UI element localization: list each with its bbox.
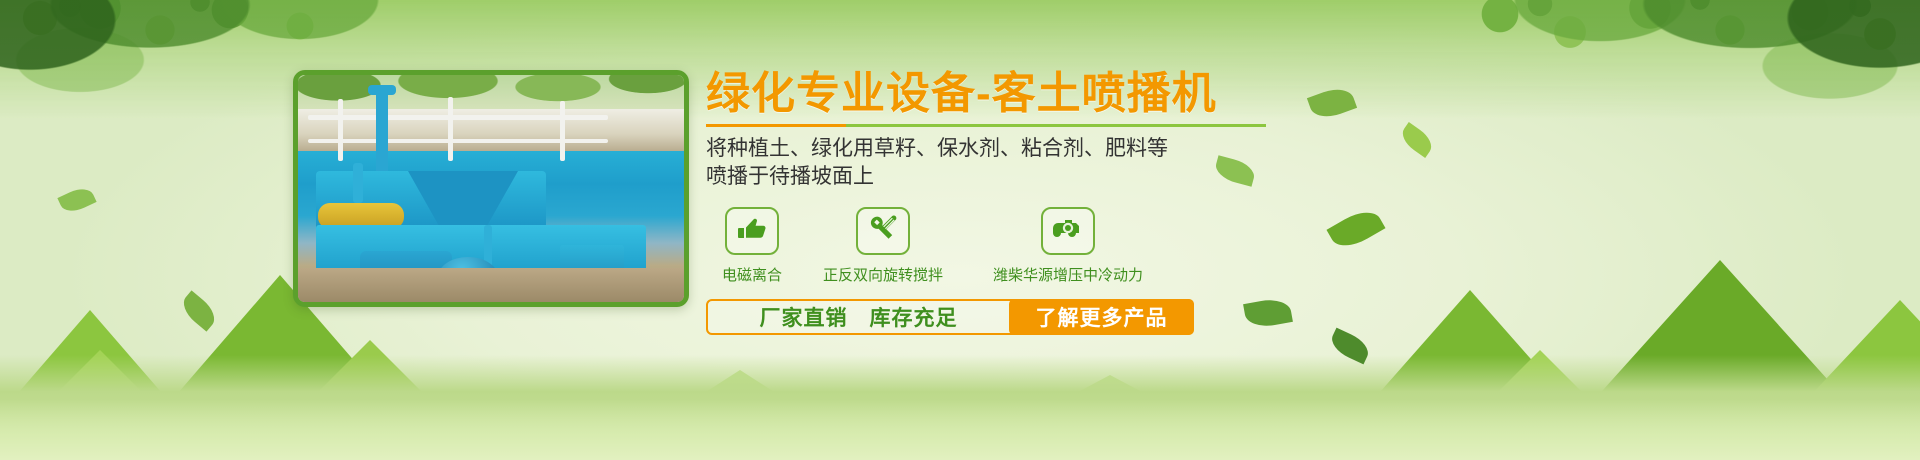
banner-subtitle: 将种植土、绿化用草籽、保水剂、粘合剂、肥料等 喷播于待播坡面上	[706, 135, 1276, 191]
feature-list: 电磁离合 正反双向旋转搅拌	[706, 207, 1276, 285]
subtitle-line-2: 喷播于待播坡面上	[706, 163, 1276, 191]
cta-tag-factory-direct: 厂家直销	[760, 302, 848, 332]
wrench-screwdriver-icon	[868, 214, 898, 247]
feature-icon-box	[1041, 207, 1095, 255]
learn-more-button[interactable]: 了解更多产品	[1009, 299, 1194, 335]
banner-content: 绿化专业设备-客土喷播机 将种植土、绿化用草籽、保水剂、粘合剂、肥料等 喷播于待…	[706, 70, 1276, 335]
grass-band-front	[0, 400, 1920, 460]
feature-label: 正反双向旋转搅拌	[823, 264, 943, 285]
leaf-decoration	[1397, 122, 1436, 158]
feature-label: 潍柴华源增压中冷动力	[993, 264, 1143, 285]
engine-icon	[1052, 215, 1084, 246]
feature-icon-box	[725, 207, 779, 255]
tree-canopy-right	[1450, 0, 1920, 175]
leaf-decoration	[57, 184, 96, 216]
title-divider	[706, 124, 1266, 127]
cta-bar: 厂家直销 库存充足 了解更多产品	[706, 299, 1194, 335]
product-photo	[293, 70, 689, 307]
feature-item-bidirectional-mixing: 正反双向旋转搅拌	[798, 207, 968, 285]
feature-label: 电磁离合	[722, 264, 782, 285]
feature-item-electromagnetic-clutch: 电磁离合	[706, 207, 798, 285]
leaf-decoration	[1326, 204, 1385, 254]
subtitle-line-1: 将种植土、绿化用草籽、保水剂、粘合剂、肥料等	[706, 135, 1276, 163]
promo-banner: 绿化专业设备-客土喷播机 将种植土、绿化用草籽、保水剂、粘合剂、肥料等 喷播于待…	[0, 0, 1920, 460]
feature-icon-box	[856, 207, 910, 255]
feature-item-weichai-engine: 潍柴华源增压中冷动力	[968, 207, 1168, 285]
thumbs-up-icon	[737, 215, 767, 246]
product-photo-image	[298, 75, 684, 302]
cta-tags: 厂家直销 库存充足	[708, 302, 1009, 332]
banner-title: 绿化专业设备-客土喷播机	[706, 70, 1276, 118]
cta-tag-stock-sufficient: 库存充足	[870, 302, 958, 332]
